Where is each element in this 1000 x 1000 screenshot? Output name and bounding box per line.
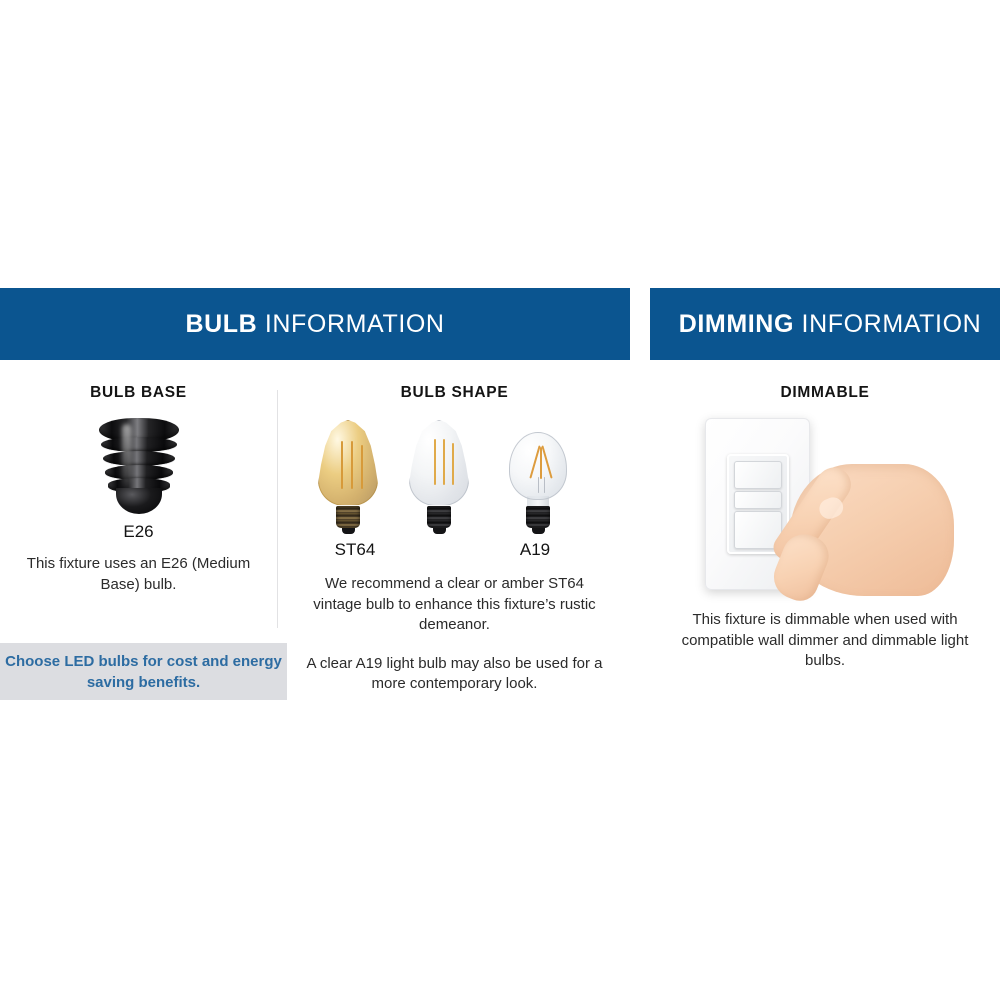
dimmable-column: DIMMABLE This f xyxy=(650,360,1000,672)
bulb-information-header: BULB INFORMATION xyxy=(0,288,630,360)
bulb-screw-cap xyxy=(427,506,451,528)
column-divider xyxy=(277,390,278,628)
bulb-shape-description-block: We recommend a clear or amber ST64 vinta… xyxy=(279,574,630,695)
bulb-cap-tip xyxy=(342,528,355,534)
bulb-cap-tip xyxy=(433,528,446,534)
filament xyxy=(351,441,353,489)
e26-contact-tip xyxy=(116,488,162,514)
bulb-shape-label-st64: ST64 xyxy=(315,540,395,560)
bulb-shape-paragraph-2: A clear A19 light bulb may also be used … xyxy=(301,654,608,695)
bulb-shape-label-a19: A19 xyxy=(495,540,575,560)
filament xyxy=(452,443,454,485)
dimmable-description-block: This fixture is dimmable when used with … xyxy=(650,610,1000,672)
clear-st64-bulb-icon xyxy=(403,420,475,534)
bulb-base-label: E26 xyxy=(0,522,277,542)
dimmable-description: This fixture is dimmable when used with … xyxy=(668,610,982,672)
dimming-header-text: DIMMING INFORMATION xyxy=(679,310,982,339)
bulb-shape-image xyxy=(279,416,630,534)
bulb-header-light: INFORMATION xyxy=(265,310,445,338)
filament xyxy=(540,447,542,479)
led-callout-box: Choose LED bulbs for cost and energy sav… xyxy=(0,643,287,700)
bulb-header-strong: BULB xyxy=(185,310,257,338)
filament xyxy=(541,445,552,478)
page-canvas: BULB INFORMATION BULB BASE E26 T xyxy=(0,0,1000,1000)
bulb-base-column: BULB BASE E26 This fixture uses an E26 (… xyxy=(0,360,277,595)
e26-thread xyxy=(101,437,177,452)
dimming-information-header: DIMMING INFORMATION xyxy=(650,288,1000,360)
filament xyxy=(443,439,445,485)
dimmer-switch-image xyxy=(650,412,1000,604)
dimming-information-panel: DIMMING INFORMATION DIMMABLE xyxy=(650,288,1000,712)
hand-illustration xyxy=(756,430,956,600)
dimming-header-strong: DIMMING xyxy=(679,310,794,338)
filament xyxy=(361,445,363,489)
bulb-base-description: This fixture uses an E26 (Medium Base) b… xyxy=(18,554,259,595)
filament xyxy=(341,441,343,489)
bulb-cap-tip xyxy=(532,528,545,534)
e26-highlight xyxy=(122,424,131,486)
bulb-shape-labels: ST64 A19 xyxy=(279,540,630,564)
bulb-base-description-block: This fixture uses an E26 (Medium Base) b… xyxy=(0,554,277,595)
bulb-shape-column: BULB SHAPE xyxy=(279,360,630,695)
bulb-header-text: BULB INFORMATION xyxy=(185,310,444,339)
clear-a19-bulb-icon xyxy=(503,432,573,534)
clear-st64-glass xyxy=(409,420,469,506)
dimmable-title: DIMMABLE xyxy=(650,360,1000,402)
bulb-screw-cap xyxy=(336,506,360,528)
bulb-shape-title: BULB SHAPE xyxy=(279,360,630,402)
amber-st64-glass xyxy=(318,420,378,506)
led-callout-text: Choose LED bulbs for cost and energy sav… xyxy=(0,651,287,693)
filament-stem xyxy=(538,477,539,493)
filament xyxy=(529,445,540,478)
bulb-base-title: BULB BASE xyxy=(0,360,277,402)
bulb-shape-paragraph-1: We recommend a clear or amber ST64 vinta… xyxy=(301,574,608,636)
filament-stem xyxy=(544,477,545,493)
dimming-header-light: INFORMATION xyxy=(802,310,982,338)
bulb-screw-cap xyxy=(526,506,550,528)
e26-screw-base-icon xyxy=(96,418,182,518)
amber-st64-bulb-icon xyxy=(311,420,385,534)
filament xyxy=(434,439,436,485)
e26-thread xyxy=(103,451,175,466)
a19-glass xyxy=(509,432,567,500)
e26-base-image xyxy=(0,414,277,522)
